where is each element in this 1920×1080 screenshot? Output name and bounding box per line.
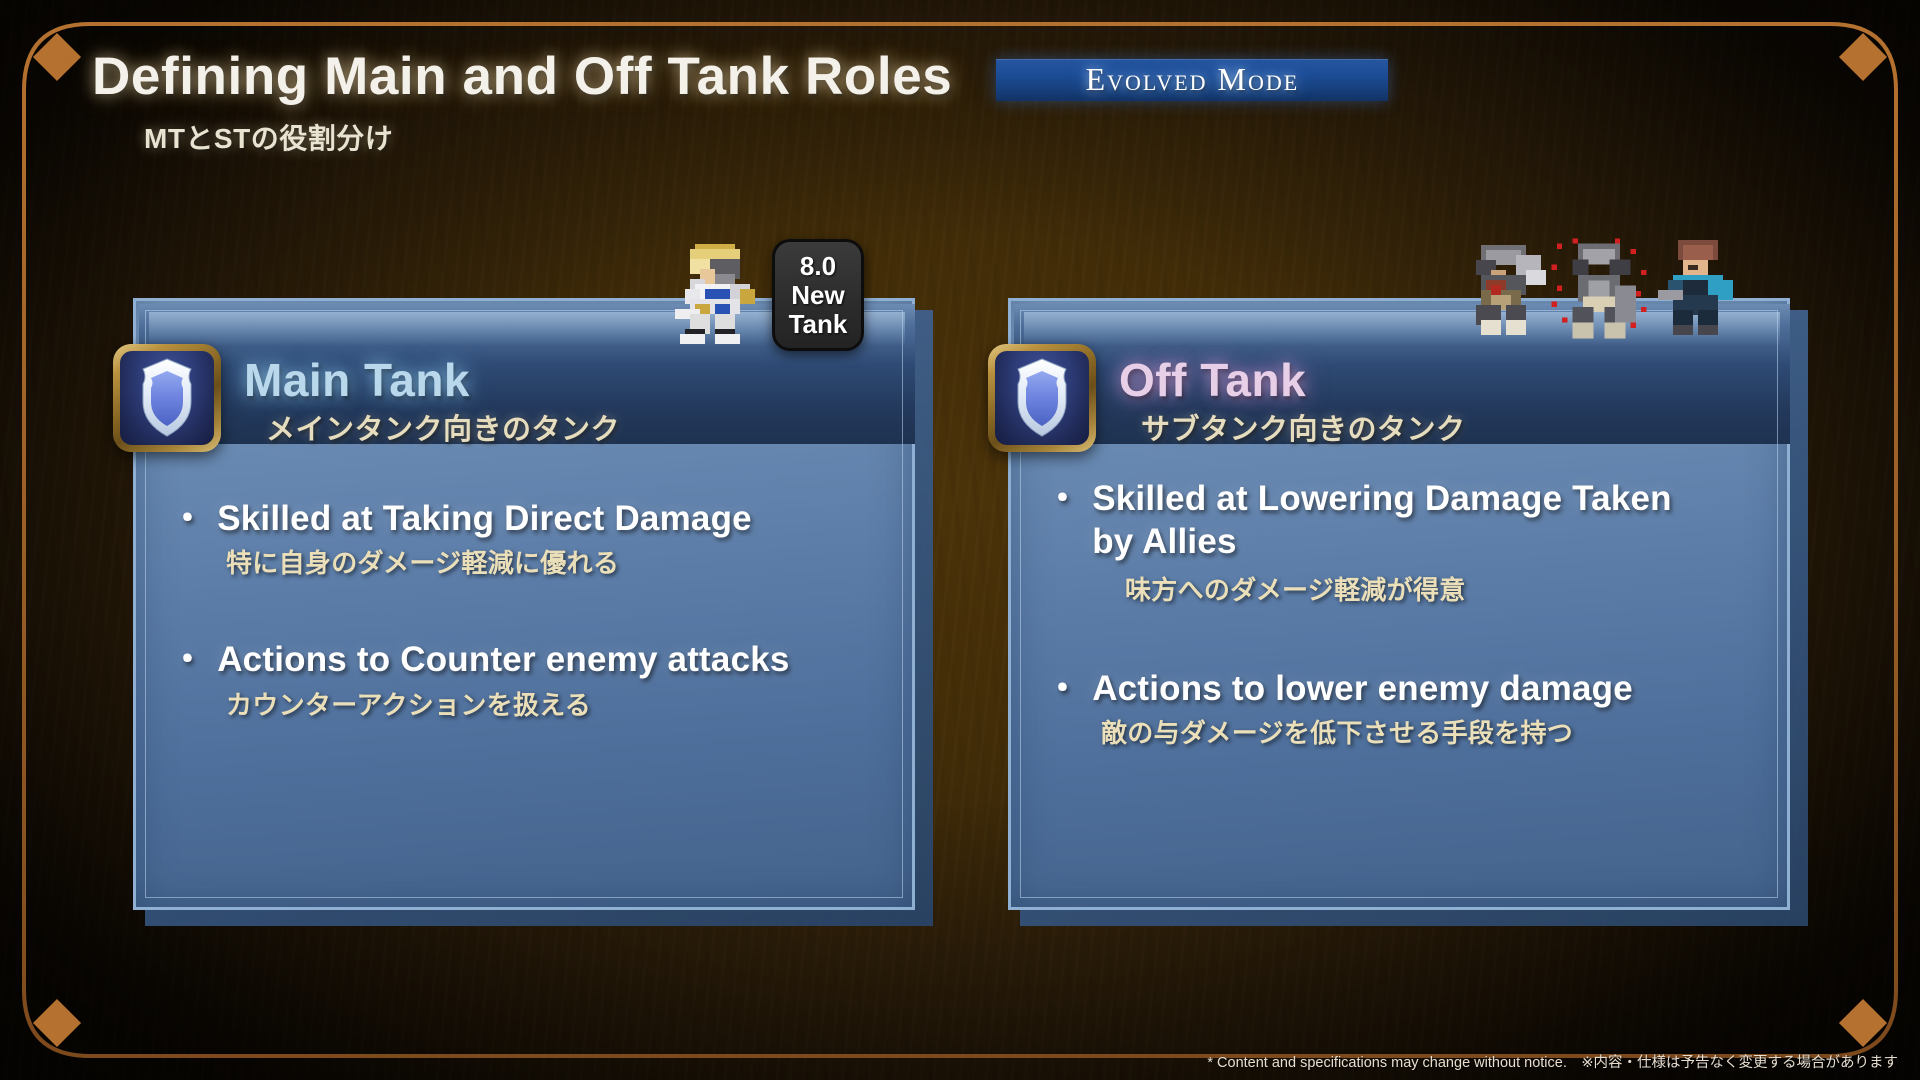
bullet-english-row: ・ Skilled at Lowering Damage Taken by Al… bbox=[1045, 477, 1763, 564]
bullet-item: ・ Actions to Counter enemy attacks カウンター… bbox=[170, 638, 888, 721]
bullet-english-text: Actions to lower enemy damage bbox=[1092, 667, 1633, 710]
tank-role-shield-icon bbox=[988, 344, 1096, 452]
card-subtitle: サブタンク向きのタンク bbox=[1141, 406, 1466, 448]
card-bullet-list: ・ Skilled at Taking Direct Damage 特に自身のダ… bbox=[170, 497, 888, 750]
page-title: Defining Main and Off Tank Roles bbox=[92, 46, 952, 107]
card-bullet-list: ・ Skilled at Lowering Damage Taken by Al… bbox=[1045, 477, 1763, 778]
bullet-english-text: Skilled at Lowering Damage Taken by Alli… bbox=[1092, 477, 1672, 564]
bullet-marker: ・ bbox=[1045, 477, 1080, 520]
bullet-japanese-text: カウンターアクションを扱える bbox=[226, 685, 888, 722]
bullet-item: ・ Skilled at Lowering Damage Taken by Al… bbox=[1045, 477, 1763, 607]
card-surface: Main Tank メインタンク向きのタンク bbox=[133, 298, 915, 910]
card-header-gloss bbox=[1024, 312, 1780, 346]
bullet-english-text: Actions to Counter enemy attacks bbox=[217, 638, 789, 681]
role-icon-field bbox=[995, 351, 1089, 445]
page-subtitle: MTとSTの役割分け bbox=[144, 117, 1592, 157]
title-row: Defining Main and Off Tank Roles Evolved… bbox=[92, 46, 1592, 107]
role-icon-field bbox=[120, 351, 214, 445]
card-title: Main Tank bbox=[244, 353, 470, 407]
version-badge-line3: Tank bbox=[789, 310, 848, 338]
card-main-tank: Main Tank メインタンク向きのタンク bbox=[133, 298, 923, 918]
bullet-japanese-text: 敵の与ダメージを低下させる手段を持つ bbox=[1101, 713, 1763, 750]
bullet-english-row: ・ Actions to Counter enemy attacks bbox=[170, 638, 888, 681]
mode-badge-label: Evolved Mode bbox=[1086, 61, 1300, 98]
bullet-marker: ・ bbox=[170, 497, 205, 540]
shield-glyph-icon bbox=[131, 357, 203, 439]
card-subtitle: メインタンク向きのタンク bbox=[266, 406, 620, 448]
bullet-english-row: ・ Actions to lower enemy damage bbox=[1045, 667, 1763, 710]
bullet-item: ・ Actions to lower enemy damage 敵の与ダメージを… bbox=[1045, 667, 1763, 750]
version-badge: 8.0 New Tank bbox=[772, 239, 864, 351]
bullet-japanese-text: 味方へのダメージ軽減が得意 bbox=[1125, 570, 1763, 607]
bullet-item: ・ Skilled at Taking Direct Damage 特に自身のダ… bbox=[170, 497, 888, 580]
footer-notice: * Content and specifications may change … bbox=[1207, 1051, 1898, 1072]
bullet-english-text: Skilled at Taking Direct Damage bbox=[217, 497, 752, 540]
version-badge-version: 8.0 bbox=[800, 252, 836, 280]
card-off-tank: Off Tank サブタンク向きのタンク bbox=[1008, 298, 1798, 918]
card-title: Off Tank bbox=[1119, 353, 1306, 407]
bullet-marker: ・ bbox=[1045, 667, 1080, 710]
bullet-marker: ・ bbox=[170, 638, 205, 681]
card-surface: Off Tank サブタンク向きのタンク bbox=[1008, 298, 1790, 910]
shield-glyph-icon bbox=[1006, 357, 1078, 439]
slide-root: Defining Main and Off Tank Roles Evolved… bbox=[0, 0, 1920, 1080]
mode-badge: Evolved Mode bbox=[996, 59, 1388, 101]
bullet-japanese-text: 特に自身のダメージ軽減に優れる bbox=[226, 543, 888, 580]
bullet-english-row: ・ Skilled at Taking Direct Damage bbox=[170, 497, 888, 540]
version-badge-line2: New bbox=[791, 281, 844, 309]
tank-role-shield-icon bbox=[113, 344, 221, 452]
slide-header: Defining Main and Off Tank Roles Evolved… bbox=[92, 46, 1592, 157]
